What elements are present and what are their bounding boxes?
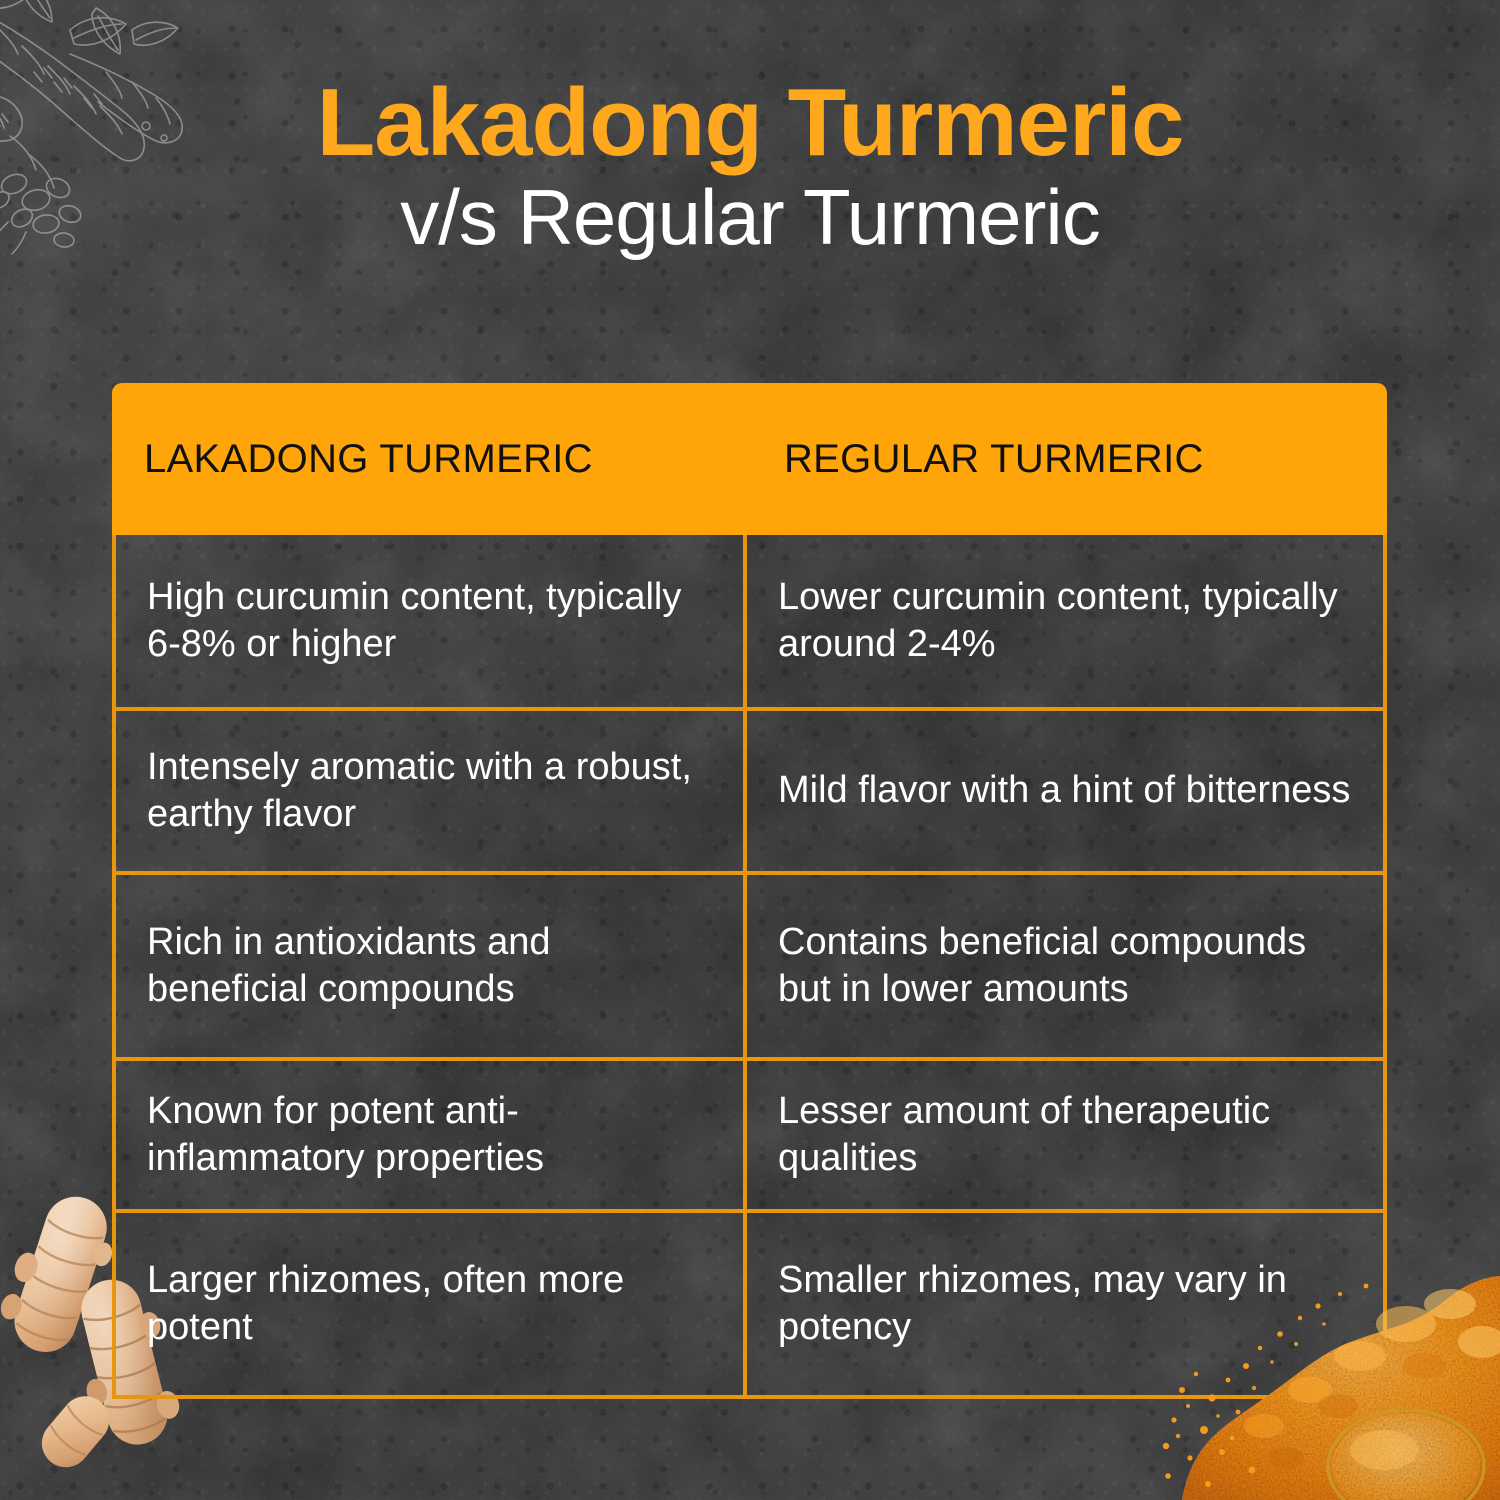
page-title: Lakadong Turmeric	[0, 74, 1500, 172]
cell-text: Known for potent anti-inflammatory prope…	[147, 1088, 717, 1182]
table-row: Intensely aromatic with a robust, earthy…	[116, 711, 1383, 875]
cell-text: High curcumin content, typically 6-8% or…	[147, 574, 717, 668]
page-subtitle: v/s Regular Turmeric	[0, 176, 1500, 259]
cell-text: Rich in antioxidants and beneficial comp…	[147, 919, 717, 1013]
cell-text: Intensely aromatic with a robust, earthy…	[147, 744, 717, 838]
column-header-regular-label: REGULAR TURMERIC	[784, 437, 1204, 482]
table-body: High curcumin content, typically 6-8% or…	[112, 535, 1387, 1399]
table-row: Larger rhizomes, often more potent Small…	[116, 1213, 1383, 1395]
comparison-table: LAKADONG TURMERIC REGULAR TURMERIC High …	[112, 383, 1387, 1399]
cell-text: Lower curcumin content, typically around…	[778, 574, 1357, 668]
cell-regular: Smaller rhizomes, may vary in potency	[747, 1213, 1383, 1395]
cell-text: Mild flavor with a hint of bitterness	[778, 767, 1350, 814]
cell-regular: Lesser amount of therapeutic qualities	[747, 1061, 1383, 1209]
cell-lakadong: Intensely aromatic with a robust, earthy…	[116, 711, 747, 871]
cell-lakadong: Known for potent anti-inflammatory prope…	[116, 1061, 747, 1209]
table-row: Rich in antioxidants and beneficial comp…	[116, 875, 1383, 1061]
cell-lakadong: High curcumin content, typically 6-8% or…	[116, 535, 747, 707]
column-header-regular: REGULAR TURMERIC	[747, 383, 1387, 535]
cell-regular: Contains beneficial compounds but in low…	[747, 875, 1383, 1057]
header-titles: Lakadong Turmeric v/s Regular Turmeric	[0, 74, 1500, 259]
table-row: Known for potent anti-inflammatory prope…	[116, 1061, 1383, 1213]
table-header-row: LAKADONG TURMERIC REGULAR TURMERIC	[112, 383, 1387, 535]
column-header-lakadong-label: LAKADONG TURMERIC	[144, 437, 593, 482]
cell-regular: Mild flavor with a hint of bitterness	[747, 711, 1383, 871]
cell-lakadong: Rich in antioxidants and beneficial comp…	[116, 875, 747, 1057]
cell-text: Smaller rhizomes, may vary in potency	[778, 1257, 1357, 1351]
cell-regular: Lower curcumin content, typically around…	[747, 535, 1383, 707]
cell-lakadong: Larger rhizomes, often more potent	[116, 1213, 747, 1395]
cell-text: Larger rhizomes, often more potent	[147, 1257, 717, 1351]
column-header-lakadong: LAKADONG TURMERIC	[112, 383, 747, 535]
cell-text: Lesser amount of therapeutic qualities	[778, 1088, 1357, 1182]
table-row: High curcumin content, typically 6-8% or…	[116, 535, 1383, 711]
cell-text: Contains beneficial compounds but in low…	[778, 919, 1357, 1013]
